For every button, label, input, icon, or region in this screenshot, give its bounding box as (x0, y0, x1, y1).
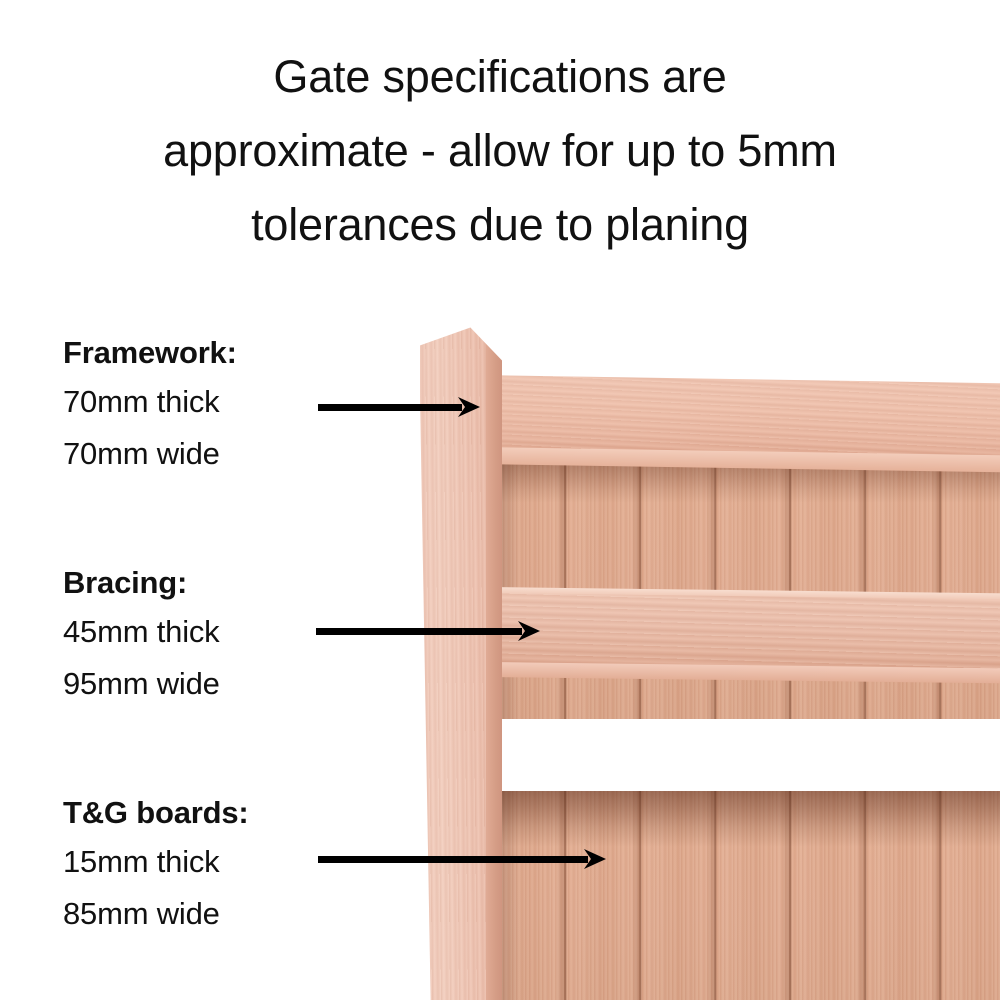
arrow-head (582, 846, 608, 872)
stile-left-background (408, 325, 420, 1000)
spec-width-tg-boards: 85mm wide (63, 888, 363, 940)
title-line-1: Gate specifications are (0, 40, 1000, 114)
lower-tongue-and-groove-panel (490, 791, 1000, 1000)
page-title: Gate specifications are approximate - al… (0, 40, 1000, 262)
arrow-right-icon-bracing (316, 618, 542, 644)
mid-rail-bracing (483, 593, 1000, 671)
arrow-shaft (318, 856, 588, 863)
spec-title-framework: Framework: (63, 330, 363, 376)
arrow-shaft (316, 628, 522, 635)
left-stile-right-edge (486, 339, 502, 1000)
spec-title-tg-boards: T&G boards: (63, 790, 363, 836)
arrow-shaft (318, 404, 462, 411)
arrow-head (456, 394, 482, 420)
arrow-right-icon-framework (318, 394, 482, 420)
spec-title-bracing: Bracing: (63, 560, 363, 606)
arrow-right-icon-tg-boards (318, 846, 608, 872)
title-line-2: approximate - allow for up to 5mm (0, 114, 1000, 188)
spec-width-bracing: 95mm wide (63, 658, 363, 710)
arrow-head (516, 618, 542, 644)
spec-width-framework: 70mm wide (63, 428, 363, 480)
title-line-3: tolerances due to planing (0, 188, 1000, 262)
gate-specifications-graphic: Gate specifications are approximate - al… (0, 0, 1000, 1000)
gate-illustration (408, 325, 1000, 1000)
background-gap-above-rail (504, 325, 1000, 375)
rail-shadow (490, 791, 1000, 847)
